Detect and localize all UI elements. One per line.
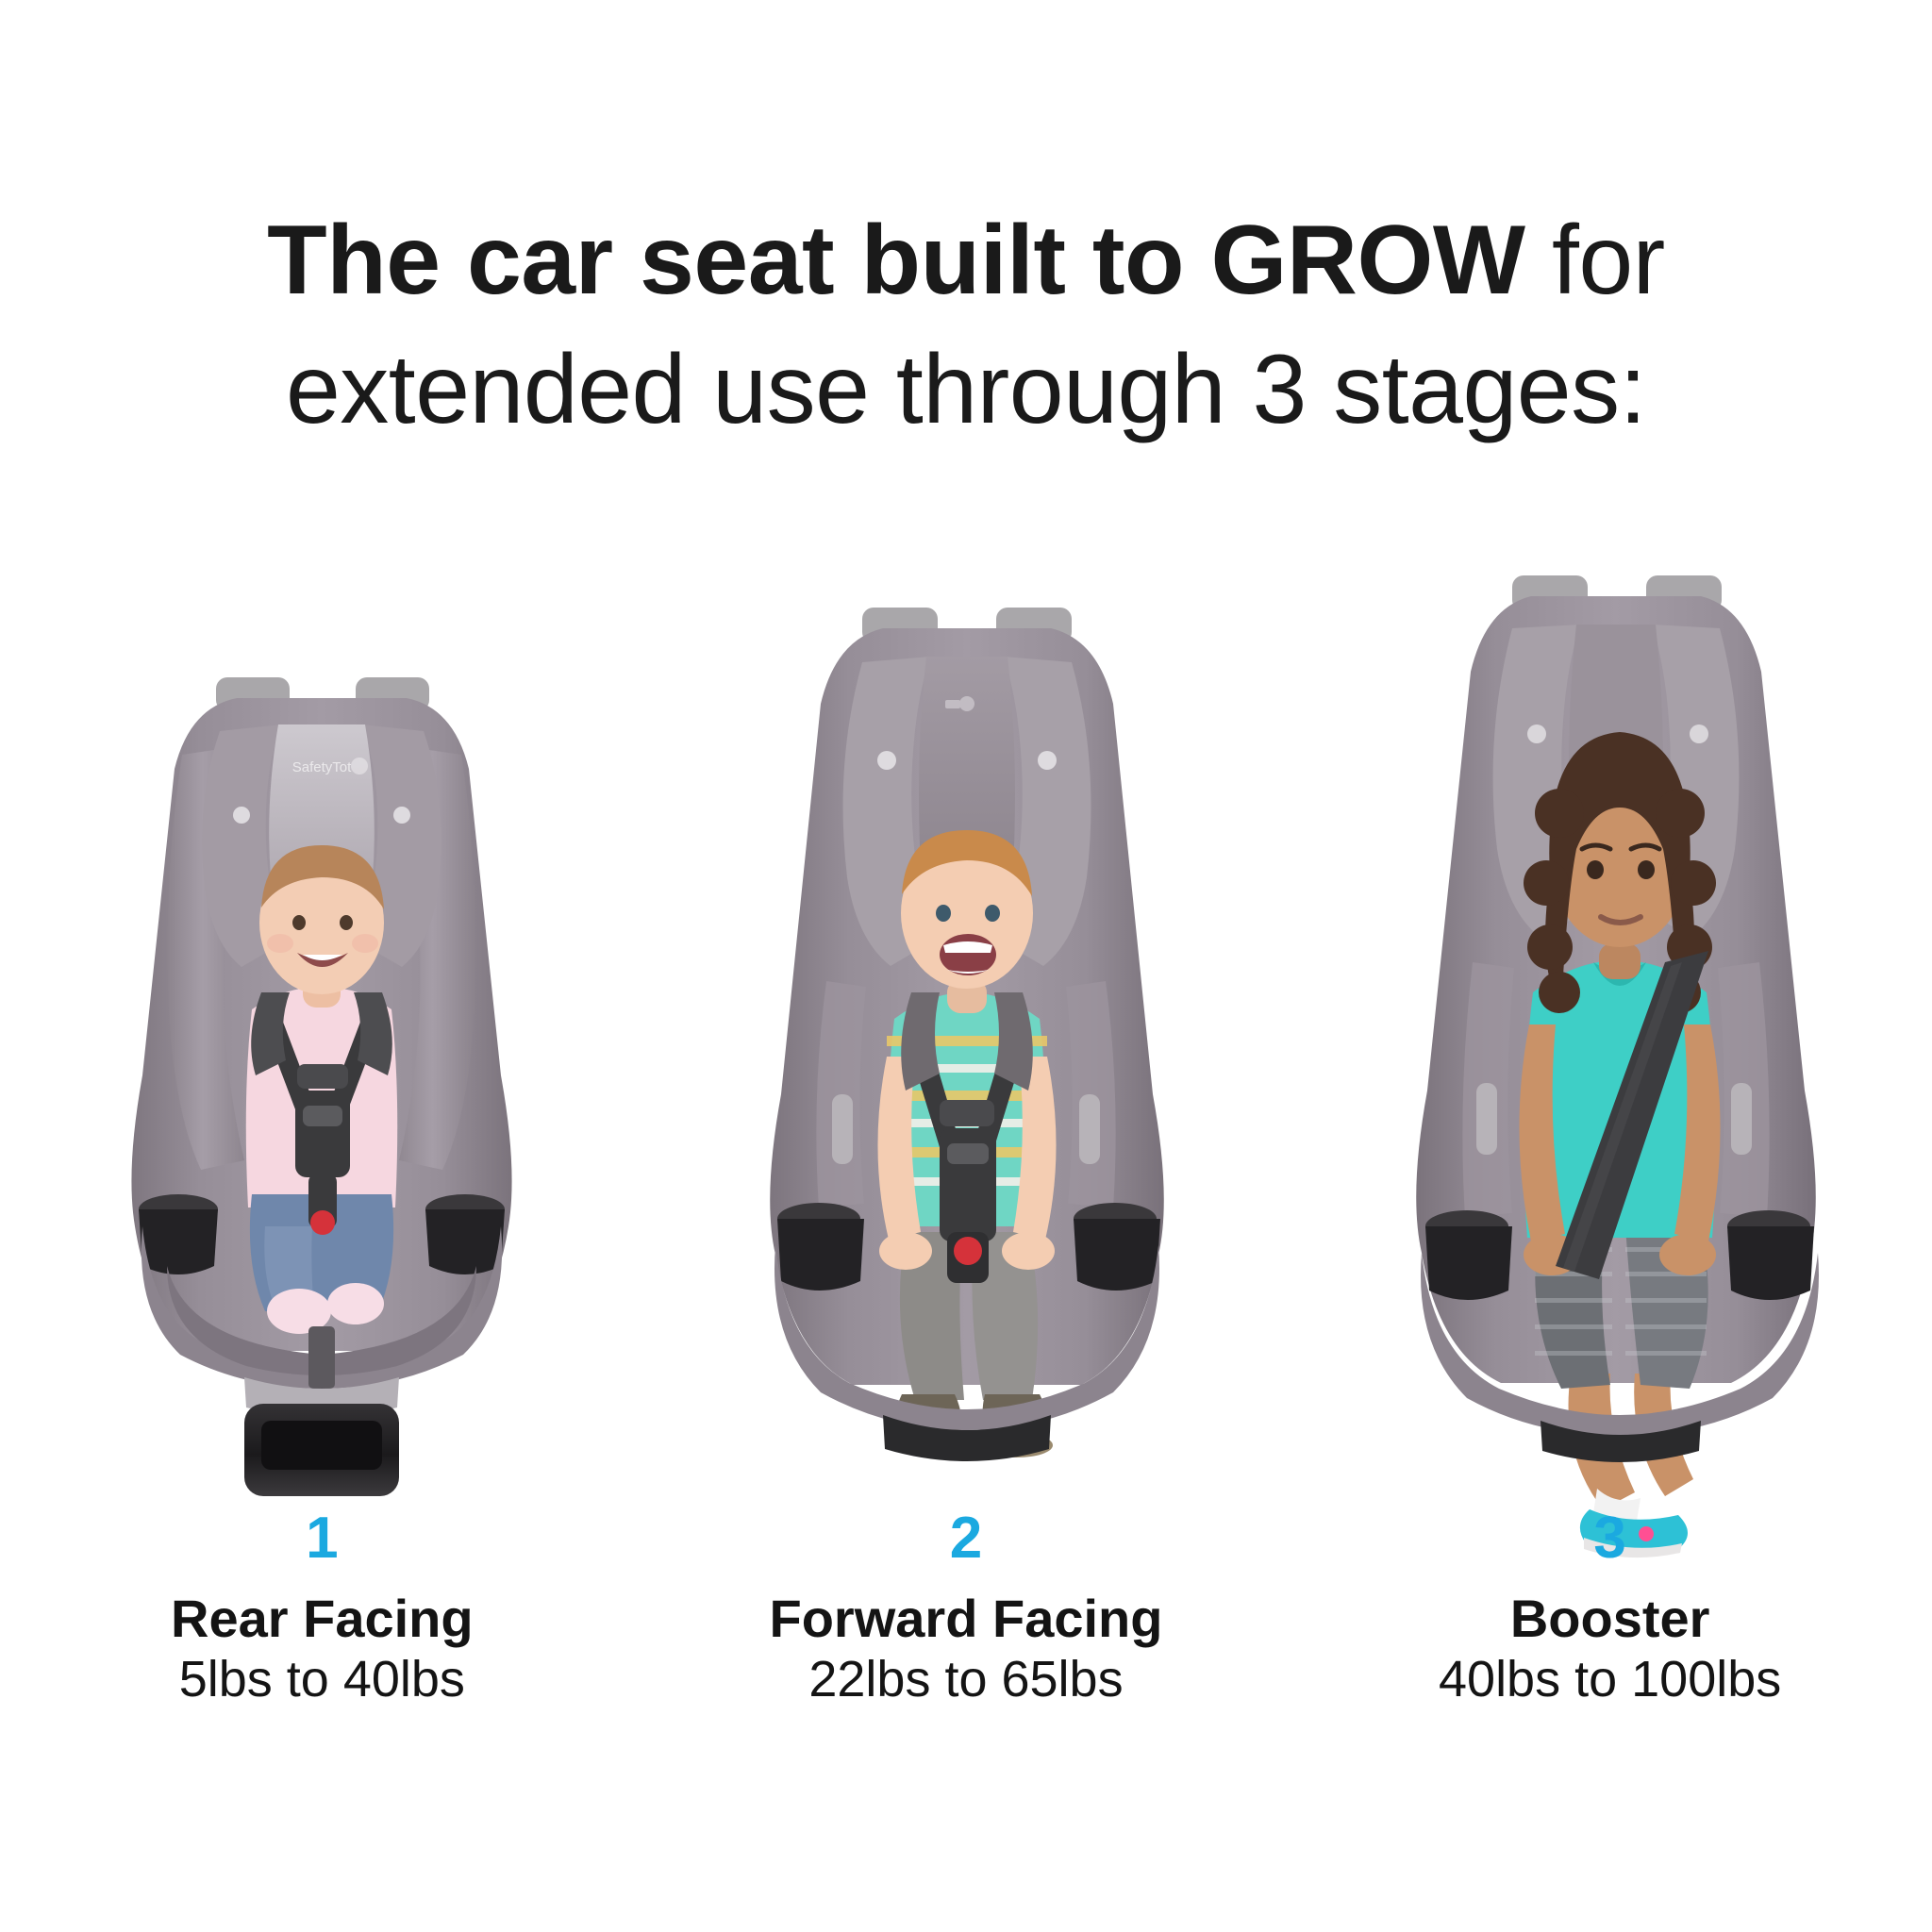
child-baby-rear-facing [246, 845, 398, 1334]
forward-facing-seat-graphic [721, 566, 1211, 1509]
cup-holder-right [425, 1194, 505, 1274]
harness-slot-right-icon [1038, 751, 1057, 770]
car-seat-booster [1346, 566, 1874, 1604]
booster-seat-graphic [1346, 566, 1874, 1566]
caption-stage-1: 1 Rear Facing 5lbs to 40lbs [29, 1509, 614, 1710]
harness-slot-right-icon [393, 807, 410, 824]
harness-slot-left-icon [1527, 724, 1546, 743]
stage-2-weight-range: 22lbs to 65lbs [674, 1649, 1258, 1710]
harness-slot-left-icon [877, 751, 896, 770]
harness-slot-left-icon [233, 807, 250, 824]
buckle [947, 1232, 989, 1283]
belt-guide-right [1079, 1094, 1100, 1164]
cup-holder-left [777, 1203, 864, 1291]
cup-holder-left [139, 1194, 218, 1274]
chest-clip [297, 1064, 348, 1089]
stage-captions: 1 Rear Facing 5lbs to 40lbs 2 Forward Fa… [0, 1509, 1932, 1710]
stage-3-title: Booster [1318, 1589, 1903, 1649]
stage-1-number: 1 [29, 1509, 614, 1568]
cup-holder-right [1074, 1203, 1160, 1291]
stage-2-title: Forward Facing [674, 1589, 1258, 1649]
stage-3-illustration [1318, 566, 1903, 1604]
stage-1-weight-range: 5lbs to 40lbs [29, 1649, 614, 1710]
stage-2-illustration [674, 566, 1258, 1604]
buckle-release-button [310, 1210, 335, 1235]
side-bolster-left [816, 981, 866, 1207]
car-seat-rear-facing: SafetyTot [76, 566, 567, 1604]
stage-2-number: 2 [674, 1509, 1258, 1568]
rear-facing-seat-graphic: SafetyTot [76, 566, 567, 1509]
stage-3-weight-range: 40lbs to 100lbs [1318, 1649, 1903, 1710]
stage-3-number: 3 [1318, 1509, 1903, 1568]
chest-clip [940, 1100, 994, 1126]
harness-slot-right-icon [1690, 724, 1708, 743]
car-seat-forward-facing [721, 566, 1211, 1604]
recline-strap [308, 1326, 335, 1389]
headline-line-1: The car seat built to GROW for [0, 196, 1932, 325]
belt-guide-right [1731, 1083, 1752, 1155]
headline-strong-text: The car seat built to GROW [267, 206, 1524, 315]
stage-illustrations: SafetyTot [0, 566, 1932, 1604]
cup-holder-right [1727, 1210, 1814, 1300]
stage-1-illustration: SafetyTot [29, 566, 614, 1604]
brand-logo: SafetyTot [292, 758, 368, 775]
belt-guide-left [832, 1094, 853, 1164]
buckle-release-button [954, 1237, 982, 1265]
cup-holder-left [1425, 1210, 1512, 1300]
svg-text:SafetyTot: SafetyTot [292, 759, 352, 775]
headline-line-2: extended use through 3 stages: [0, 325, 1932, 455]
caption-stage-2: 2 Forward Facing 22lbs to 65lbs [674, 1509, 1258, 1710]
side-bolster-right [1066, 981, 1116, 1207]
stage-1-title: Rear Facing [29, 1589, 614, 1649]
belt-guide-left [1476, 1083, 1497, 1155]
caption-stage-3: 3 Booster 40lbs to 100lbs [1318, 1509, 1903, 1710]
page-title: The car seat built to GROW for extended … [0, 196, 1932, 456]
headline-light-text-for: for [1525, 206, 1665, 315]
